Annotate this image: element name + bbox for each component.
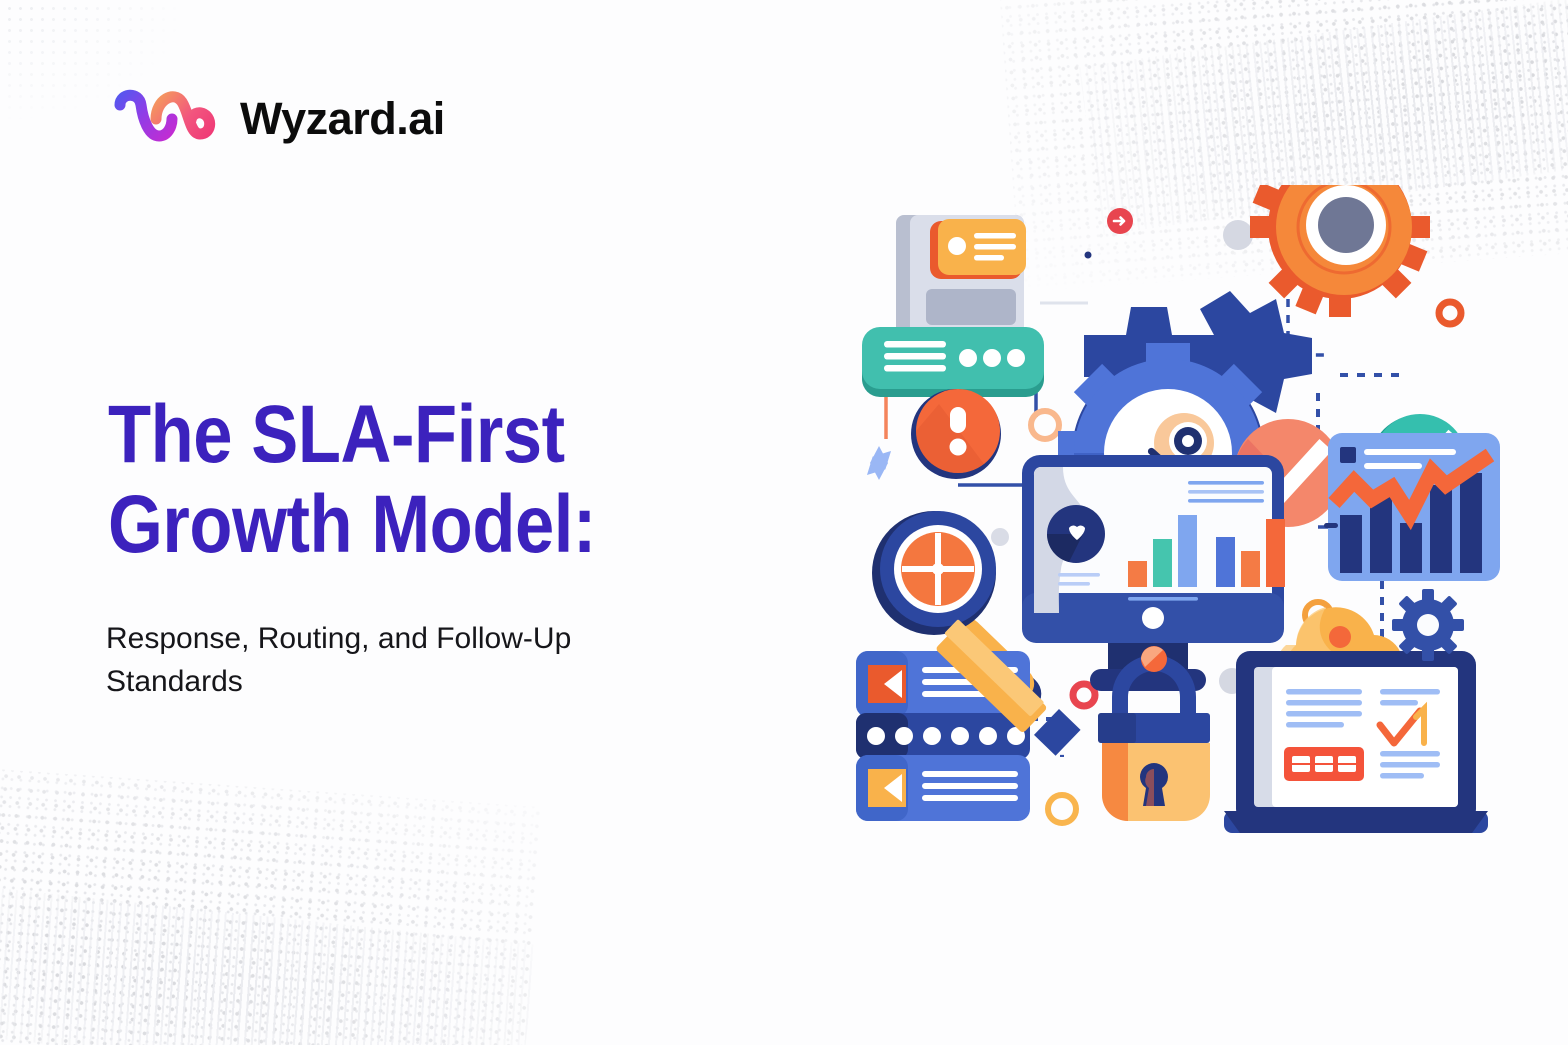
banner-root: Wyzard.ai The SLA-First Growth Model: Re… (0, 0, 1568, 1045)
laptop-icon (1224, 651, 1488, 833)
brand-wordmark: Wyzard.ai (240, 96, 445, 141)
gear-small-blue-icon (1392, 589, 1464, 661)
gear-orange-icon (1250, 185, 1430, 317)
halftone-wave-bottom-left (0, 886, 536, 1045)
business-analytics-illustration (840, 185, 1500, 845)
page-title-line-1: The SLA-First (108, 390, 641, 480)
brand-logo[interactable]: Wyzard.ai (112, 86, 445, 150)
alert-badge-icon (911, 389, 1001, 479)
analytics-card-icon (1324, 433, 1500, 581)
page-title-line-2: Growth Model: (108, 480, 641, 570)
halftone-pattern-bottom-left (0, 764, 541, 1045)
page-title: The SLA-First Growth Model: (108, 390, 641, 570)
page-subtitle: Response, Routing, and Follow-Up Standar… (106, 618, 686, 703)
wyzard-wave-w-icon (112, 86, 224, 150)
server-bar-teal-icon (862, 327, 1044, 397)
